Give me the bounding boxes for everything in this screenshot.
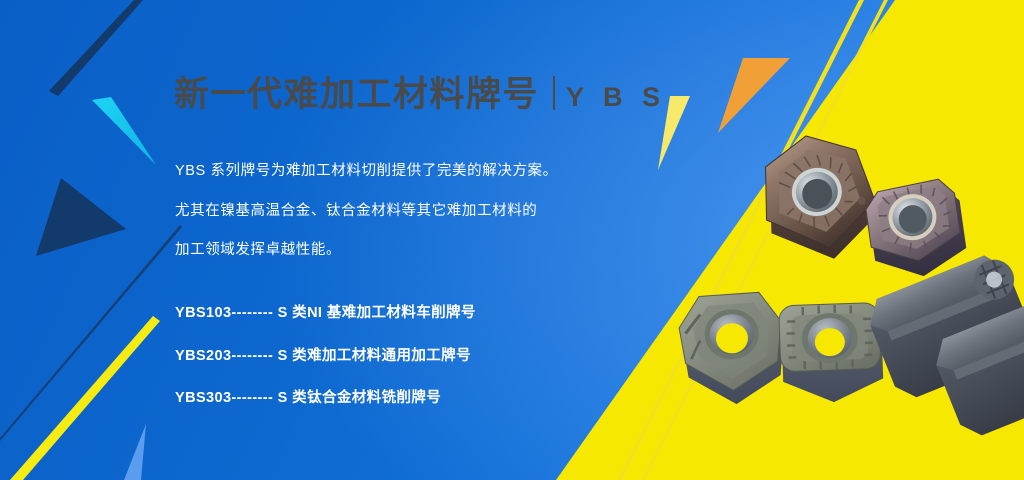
banner-title: 新一代难加工材料牌号 Y B S (174, 72, 666, 112)
model-list: YBS103-------- S 类NI 基难加工材料车削牌号 YBS203--… (175, 306, 476, 434)
description-line: 尤其在镍基高温合金、钛合金材料等其它难加工材料的 (175, 204, 558, 219)
model-item-ybs303: YBS303-------- S 类钛合金材料铣削牌号 (175, 391, 476, 406)
navy-triangle (36, 178, 126, 256)
orange-triangle (718, 58, 790, 133)
navy-hairline (0, 225, 182, 441)
description-line: YBS 系列牌号为难加工材料切削提供了完美的解决方案。 (175, 164, 558, 179)
light-blue-triangle (124, 424, 146, 480)
text-content: 新一代难加工材料牌号 Y B S YBS 系列牌号为难加工材料切削提供了完美的解… (174, 0, 644, 480)
navy-diagonal-stripe (49, 0, 143, 96)
title-chinese: 新一代难加工材料牌号 (174, 77, 539, 112)
product-banner: 新一代难加工材料牌号 Y B S YBS 系列牌号为难加工材料切削提供了完美的解… (0, 0, 1024, 480)
description-block: YBS 系列牌号为难加工材料切削提供了完美的解决方案。 尤其在镍基高温合金、钛合… (175, 164, 558, 283)
title-divider (553, 76, 555, 110)
cyan-triangle (92, 97, 156, 165)
model-item-ybs103: YBS103-------- S 类NI 基难加工材料车削牌号 (175, 306, 476, 321)
title-english: Y B S (566, 84, 666, 111)
description-line: 加工领域发挥卓越性能。 (175, 243, 558, 258)
model-item-ybs203: YBS203-------- S 类难加工材料通用加工牌号 (175, 349, 476, 364)
